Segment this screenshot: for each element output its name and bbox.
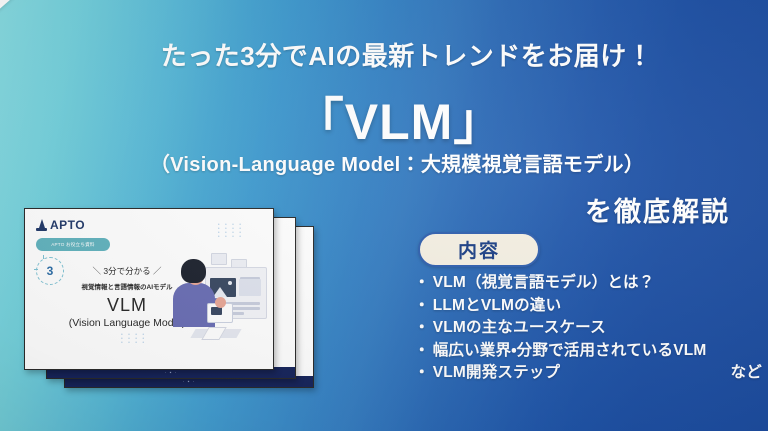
list-item: ・ VLMの主なユースケース <box>414 317 764 340</box>
list-item-label: VLM開発ステップ <box>433 362 561 385</box>
slide-card-front[interactable]: APTO APTO お役立ち資料 3 ＼ 3分で分かる ／ 視覚情報と言語情報の… <box>24 208 274 370</box>
bullet-marker: ・ <box>414 272 430 295</box>
slide-category-label: APTO お役立ち資料 <box>51 242 94 248</box>
apto-logo: APTO <box>36 218 85 232</box>
bullet-marker: ・ <box>414 340 430 363</box>
list-item-suffix: など <box>731 362 764 385</box>
list-item: ・ VLM（視覚言語モデル）とは？ <box>414 272 764 295</box>
slide-footer-dots: · ▪ · <box>65 379 313 385</box>
contents-badge: 内容 <box>418 232 540 267</box>
person-hand <box>215 297 226 308</box>
apto-logo-text: APTO <box>50 218 85 232</box>
decor-dots-top-right: • • • • • • • • • • • • • • • • <box>218 223 243 239</box>
kicker-label: 3分で分かる <box>103 266 150 276</box>
apto-logo-mark-icon <box>36 219 47 232</box>
kicker-left-slash: ＼ <box>92 266 101 276</box>
slide-kicker: ＼ 3分で分かる ／ <box>67 265 187 277</box>
clock-minutes-number: 3 <box>47 264 54 278</box>
slide-preview-stack[interactable]: · ▪ · · ▪ · APTO APTO お役立ち資料 3 ＼ 3分で分かる … <box>24 208 314 388</box>
note-icon <box>211 253 227 265</box>
vlm-illustration <box>171 251 267 343</box>
floating-thumbnail <box>211 307 222 315</box>
slide-footer-dots: · ▪ · <box>47 370 295 376</box>
kicker-right-slash: ／ <box>153 266 162 276</box>
list-item-label: VLM（視覚言語モデル）とは？ <box>433 272 655 295</box>
person-hair <box>181 259 206 283</box>
promo-banner: 無料ダウンロード たった3分でAIの最新トレンドをお届け！ 「VLM」 （Vis… <box>0 0 768 431</box>
hero-title: 「VLM」 <box>0 82 768 154</box>
bullet-marker: ・ <box>414 362 430 385</box>
list-item: ・ LLMとVLMの違い <box>414 295 764 318</box>
list-item-label: 幅広い業界・分野で活用されているVLM <box>433 340 707 363</box>
list-item-label: VLMの主なユースケース <box>433 317 606 340</box>
decor-dots-bottom: • • • • • • • • • • • • <box>121 333 146 345</box>
bullet-marker: ・ <box>414 295 430 318</box>
dots-row: • • • • <box>218 235 243 239</box>
contents-badge-label: 内容 <box>458 236 500 263</box>
slide-category-pill: APTO お役立ち資料 <box>36 238 110 251</box>
hero-subtitle: （Vision-Language Model：大規模視覚言語モデル） <box>0 148 768 177</box>
list-item-label: LLMとVLMの違い <box>433 295 562 318</box>
hero-headline: たった3分でAIの最新トレンドをお届け！ <box>0 36 768 73</box>
list-item: ・ 幅広い業界・分野で活用されているVLM <box>414 340 764 363</box>
panel-block <box>239 279 261 296</box>
ribbon-label: 無料ダウンロード <box>0 0 86 3</box>
list-item: ・ VLM開発ステップ など <box>414 362 764 385</box>
bullet-marker: ・ <box>414 317 430 340</box>
dots-row: • • • • <box>121 341 146 345</box>
contents-list: ・ VLM（視覚言語モデル）とは？ ・ LLMとVLMの違い ・ VLMの主なユ… <box>414 272 764 385</box>
hero-tail-text: を徹底解説 <box>585 190 730 229</box>
